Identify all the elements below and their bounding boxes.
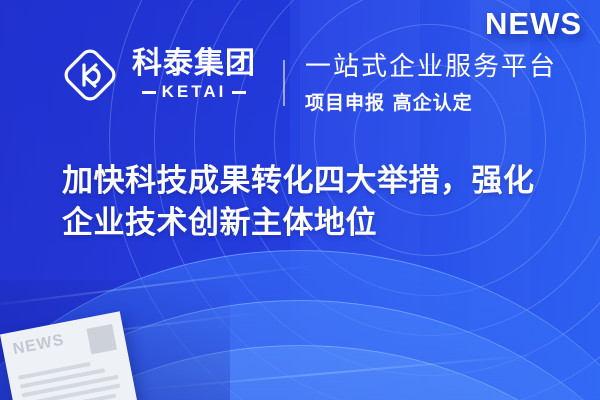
slogan-main: 一站式企业服务平台 [305,52,557,83]
banner-header: NEWS 科泰集团 KETAI 一站式企业服务 [0,0,600,140]
newspaper-label: NEWS [11,332,65,360]
page-title: 加快科技成果转化四大举措，强化企业技术创新主体地位 [62,160,562,244]
ketai-diamond-k-logo-icon [62,47,118,103]
brand-name-en-row: KETAI [142,82,247,102]
brand-name-en: KETAI [162,82,227,102]
slogan-sub: 项目申报 高企认定 [305,88,557,115]
newspaper-image-placeholder-icon [86,324,116,354]
dash-left-icon [142,91,156,94]
bg-diagonal-streak-3 [121,354,540,393]
news-badge: NEWS [485,6,582,42]
slogan-block: 一站式企业服务平台 项目申报 高企认定 [305,52,557,115]
header-divider [283,60,285,106]
bg-diagonal-streak-1 [0,264,319,310]
news-banner: NEWS 科泰集团 KETAI 一站式企业服务 [0,0,600,400]
dash-right-icon [232,91,246,94]
brand-logo: 科泰集团 KETAI [62,47,256,103]
brand-wordmark: 科泰集团 KETAI [132,48,256,103]
brand-name-cn: 科泰集团 [132,48,256,80]
newspaper-graphic: NEWS [0,311,138,400]
